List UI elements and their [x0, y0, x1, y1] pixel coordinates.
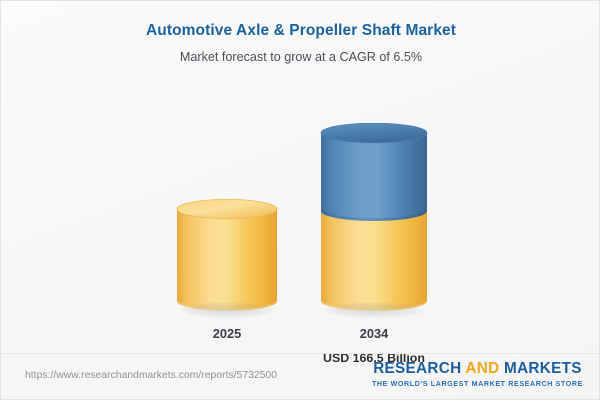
research-and-markets-logo[interactable]: RESEARCH AND MARKETS THE WORLD'S LARGEST…: [372, 360, 583, 389]
logo-tagline: THE WORLD'S LARGEST MARKET RESEARCH STOR…: [372, 379, 583, 389]
cylinder-2025-graphic: [176, 199, 278, 311]
report-url[interactable]: https://www.researchandmarkets.com/repor…: [25, 370, 277, 381]
axis-label-2025: 2025: [213, 326, 241, 341]
logo-word-research: RESEARCH: [373, 360, 461, 377]
infographic-card: Automotive Axle & Propeller Shaft Market…: [0, 0, 600, 400]
footer-bar: https://www.researchandmarkets.com/repor…: [1, 353, 600, 399]
cylinder-bar-2025[interactable]: [176, 199, 278, 311]
cylinder-shadow-2034: [324, 302, 423, 318]
axis-label-2034: 2034: [360, 326, 388, 341]
logo-word-and: AND: [465, 360, 499, 377]
logo-word-markets: MARKETS: [504, 360, 582, 377]
cylinder-2034-graphic: [320, 123, 428, 311]
logo-wordmark: RESEARCH AND MARKETS: [372, 360, 583, 378]
chart-plot-area: USD 92.5 Billion: [1, 1, 600, 353]
cylinder-shadow-2025: [180, 302, 274, 318]
cylinder-bar-2034[interactable]: [320, 123, 428, 311]
